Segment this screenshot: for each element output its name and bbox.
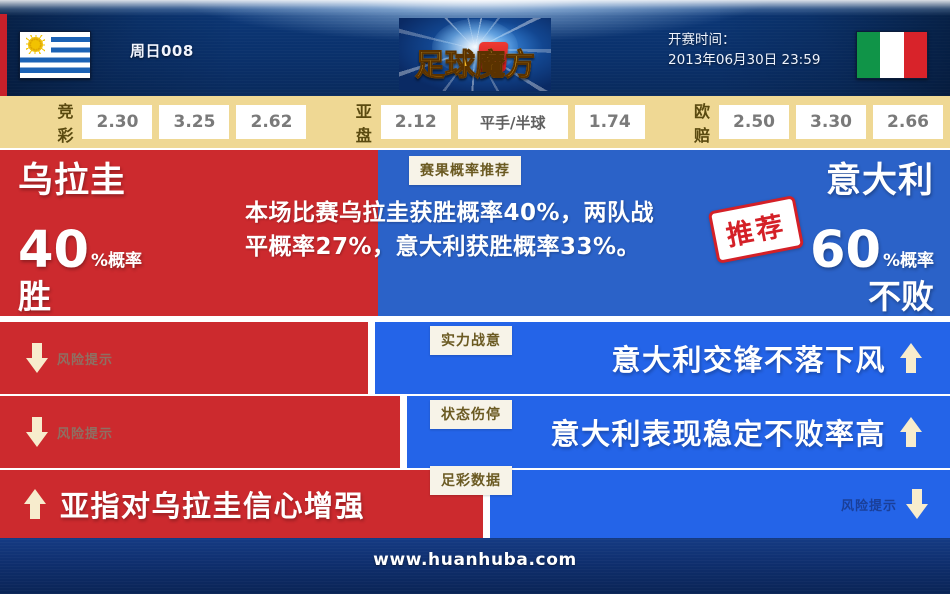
arrow-up-icon bbox=[900, 417, 922, 447]
factor-row-3-left-text: 亚指对乌拉圭信心增强 bbox=[60, 483, 365, 525]
odds-cell-jingcai-3[interactable]: 2.62 bbox=[236, 105, 306, 139]
italy-flag-red bbox=[904, 32, 927, 78]
match-preview-infographic: 周日008 足球魔方 开赛时间： 2013年06月30日 23:59 竞彩 2.… bbox=[0, 0, 950, 594]
away-probability-unit: %概率 bbox=[883, 253, 934, 275]
italy-flag-white bbox=[880, 32, 903, 78]
odds-label-yapan: 亚盘 bbox=[356, 98, 373, 146]
odds-label-jingcai: 竞彩 bbox=[57, 98, 74, 146]
italy-flag-green bbox=[857, 32, 880, 78]
factor-row-3-blue: 风险提示 bbox=[490, 470, 950, 538]
factor-row-2-left-hint: 风险提示 bbox=[26, 417, 113, 447]
factor-row-2-left-label: 风险提示 bbox=[57, 423, 113, 442]
match-id: 周日008 bbox=[130, 40, 194, 61]
section-tab-form: 状态伤停 bbox=[430, 400, 512, 429]
factor-row-1-right-statement: 意大利交锋不落下风 bbox=[611, 337, 922, 379]
factor-row-3-right-hint: 风险提示 bbox=[841, 489, 928, 519]
odds-cell-jingcai-1[interactable]: 2.30 bbox=[82, 105, 152, 139]
arrow-down-icon bbox=[26, 417, 48, 447]
arrow-up-icon bbox=[900, 343, 922, 373]
away-outcome-label: 不败 bbox=[810, 280, 934, 313]
section-tab-probability: 赛果概率推荐 bbox=[409, 156, 521, 185]
factor-row-3-right-label: 风险提示 bbox=[841, 495, 897, 514]
kickoff-time: 开赛时间： 2013年06月30日 23:59 bbox=[668, 30, 820, 70]
header-sheen bbox=[0, 0, 950, 16]
odds-group-jingcai: 竞彩 2.30 3.25 2.62 bbox=[49, 98, 313, 146]
home-outcome-label: 胜 bbox=[18, 280, 142, 313]
logo-text: 足球魔方 bbox=[399, 40, 551, 84]
footer-url[interactable]: www.huanhuba.com bbox=[0, 550, 950, 570]
odds-cell-jingcai-2[interactable]: 3.25 bbox=[159, 105, 229, 139]
footer: www.huanhuba.com bbox=[0, 538, 950, 594]
kickoff-value: 2013年06月30日 23:59 bbox=[668, 50, 820, 70]
kickoff-label: 开赛时间： bbox=[668, 30, 820, 50]
header: 周日008 足球魔方 开赛时间： 2013年06月30日 23:59 bbox=[0, 0, 950, 96]
odds-cell-yapan-1[interactable]: 2.12 bbox=[381, 105, 451, 139]
uruguay-sun-icon bbox=[29, 38, 42, 51]
italy-flag-icon bbox=[856, 31, 928, 79]
away-probability-value: 60 bbox=[810, 227, 881, 275]
probability-summary: 本场比赛乌拉圭获胜概率40%，两队战平概率27%，意大利获胜概率33%。 bbox=[245, 196, 675, 264]
factor-row-1-red: 风险提示 bbox=[0, 322, 368, 394]
odds-label-oupei: 欧赔 bbox=[694, 98, 711, 146]
factor-row-2-right-statement: 意大利表现稳定不败率高 bbox=[550, 411, 922, 453]
header-accent-bar bbox=[0, 14, 7, 96]
section-tab-strength: 实力战意 bbox=[430, 326, 512, 355]
home-pct-row: 40 %概率 bbox=[18, 203, 142, 275]
section-tab-betting-data: 足彩数据 bbox=[430, 466, 512, 495]
arrow-down-icon bbox=[906, 489, 928, 519]
odds-cell-yapan-handicap[interactable]: 平手/半球 bbox=[458, 105, 568, 139]
away-team-block: 意大利 60 %概率 不败 bbox=[810, 164, 934, 313]
home-team-name: 乌拉圭 bbox=[18, 164, 142, 199]
away-team-name: 意大利 bbox=[810, 164, 934, 199]
arrow-up-icon bbox=[24, 489, 46, 519]
factor-row-3-red: 亚指对乌拉圭信心增强 bbox=[0, 470, 483, 538]
arrow-down-icon bbox=[26, 343, 48, 373]
factor-row-3-left-statement: 亚指对乌拉圭信心增强 bbox=[24, 483, 365, 525]
home-team-block: 乌拉圭 40 %概率 胜 bbox=[18, 164, 142, 313]
factor-row-1-left-hint: 风险提示 bbox=[26, 343, 113, 373]
odds-cell-oupei-3[interactable]: 2.66 bbox=[873, 105, 943, 139]
odds-cell-oupei-2[interactable]: 3.30 bbox=[796, 105, 866, 139]
uruguay-flag-icon bbox=[19, 31, 91, 79]
site-logo: 足球魔方 bbox=[399, 18, 551, 91]
odds-bar: 竞彩 2.30 3.25 2.62 亚盘 2.12 平手/半球 1.74 欧赔 … bbox=[0, 96, 950, 148]
factor-row-1-left-label: 风险提示 bbox=[57, 349, 113, 368]
home-probability-unit: %概率 bbox=[91, 253, 142, 275]
factor-row-2-red: 风险提示 bbox=[0, 396, 400, 468]
odds-cell-yapan-2[interactable]: 1.74 bbox=[575, 105, 645, 139]
away-pct-row: 60 %概率 bbox=[810, 203, 934, 275]
factor-row-2-right-text: 意大利表现稳定不败率高 bbox=[550, 411, 886, 453]
home-probability-value: 40 bbox=[18, 227, 89, 275]
odds-cell-oupei-1[interactable]: 2.50 bbox=[719, 105, 789, 139]
odds-group-yapan: 亚盘 2.12 平手/半球 1.74 bbox=[348, 98, 652, 146]
factor-row-1-right-text: 意大利交锋不落下风 bbox=[611, 337, 886, 379]
odds-group-oupei: 欧赔 2.50 3.30 2.66 bbox=[686, 98, 950, 146]
